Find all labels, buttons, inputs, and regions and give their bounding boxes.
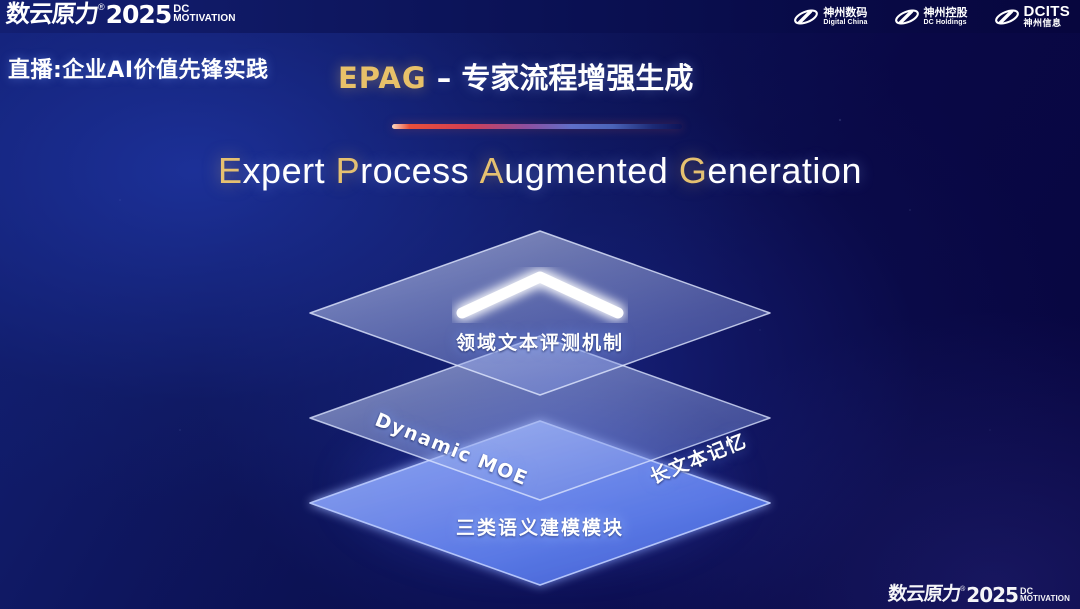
partner-name-en: Digital China xyxy=(823,19,867,26)
swoosh-logo-icon xyxy=(994,6,1020,28)
brand-registered-mark: ® xyxy=(98,3,105,12)
brand-logo: 数云原力 ® 2025 DC MOTIVATION xyxy=(6,2,236,27)
brand-year: 2025 xyxy=(106,2,172,27)
partner-logo-dc-holdings: 神州控股 DC Holdings xyxy=(894,6,968,28)
partner-logo-digital-china: 神州数码 Digital China xyxy=(793,6,867,28)
partner-logo-group: 神州数码 Digital China 神州控股 DC Holdings xyxy=(793,4,1070,30)
layer-label-bottom: 三类语义建模模块 xyxy=(300,513,780,540)
partner-name-cn: 神州控股 xyxy=(924,7,968,19)
chevron-up-icon xyxy=(452,267,628,323)
expanded-rest-augmented: ugmented xyxy=(504,150,668,191)
live-subtitle: 直播:企业AI价值先锋实践 xyxy=(8,52,269,84)
partner-name-cn: 神州数码 xyxy=(823,7,867,19)
swoosh-logo-icon xyxy=(894,6,920,28)
footer-watermark-logo: 数云原力 ® 2025 DC MOTIVATION xyxy=(888,585,1070,605)
title-acronym: EPAG xyxy=(338,61,427,95)
brand-dc-motivation: DC MOTIVATION xyxy=(173,4,235,24)
partner-logo-dcits: DCITS 神州信息 xyxy=(994,4,1071,30)
title-expanded: Expert Process Augmented Generation xyxy=(0,150,1080,192)
expanded-rest-generation: eneration xyxy=(707,150,862,191)
partner-text-digital-china: 神州数码 Digital China xyxy=(823,7,867,26)
partner-name-en: DC Holdings xyxy=(924,19,968,26)
swoosh-logo-icon xyxy=(793,6,819,28)
footer-brand-registered-mark: ® xyxy=(960,586,965,593)
footer-brand-motivation-text: MOTIVATION xyxy=(1020,595,1070,603)
brand-motivation-text: MOTIVATION xyxy=(173,14,235,24)
footer-brand-year: 2025 xyxy=(966,585,1018,605)
expanded-cap-p: P xyxy=(336,150,361,191)
partner-text-dc-holdings: 神州控股 DC Holdings xyxy=(924,7,968,26)
page-title: EPAG – 专家流程增强生成 xyxy=(338,55,693,97)
expanded-space-2 xyxy=(469,150,480,191)
gradient-divider xyxy=(392,124,682,129)
partner-text-dcits: DCITS 神州信息 xyxy=(1024,4,1071,30)
expanded-rest-process: rocess xyxy=(360,150,469,191)
footer-brand-dc-motivation: DC MOTIVATION xyxy=(1020,587,1070,603)
footer-brand-name-cn: 数云原力 xyxy=(887,585,961,604)
expanded-cap-e: E xyxy=(218,150,243,191)
expanded-space-1 xyxy=(325,150,336,191)
layer-stack-diagram: 领域文本评测机制 Dynamic MOE 长文本记忆 三类语义建模模块 xyxy=(300,225,780,555)
brand-name-cn: 数云原力 xyxy=(5,2,99,26)
slide-canvas: 数云原力 ® 2025 DC MOTIVATION 直播:企业AI价值先锋实践 … xyxy=(0,0,1080,609)
expanded-rest-expert: xpert xyxy=(243,150,326,191)
expanded-cap-a: A xyxy=(480,150,505,191)
layer-label-top: 领域文本评测机制 xyxy=(300,328,780,355)
expanded-cap-g: G xyxy=(679,150,708,191)
partner-name-cn: 神州信息 xyxy=(1024,19,1071,30)
title-chinese: – 专家流程增强生成 xyxy=(427,61,694,95)
expanded-space-3 xyxy=(668,150,679,191)
partner-name-en: DCITS xyxy=(1024,4,1071,19)
